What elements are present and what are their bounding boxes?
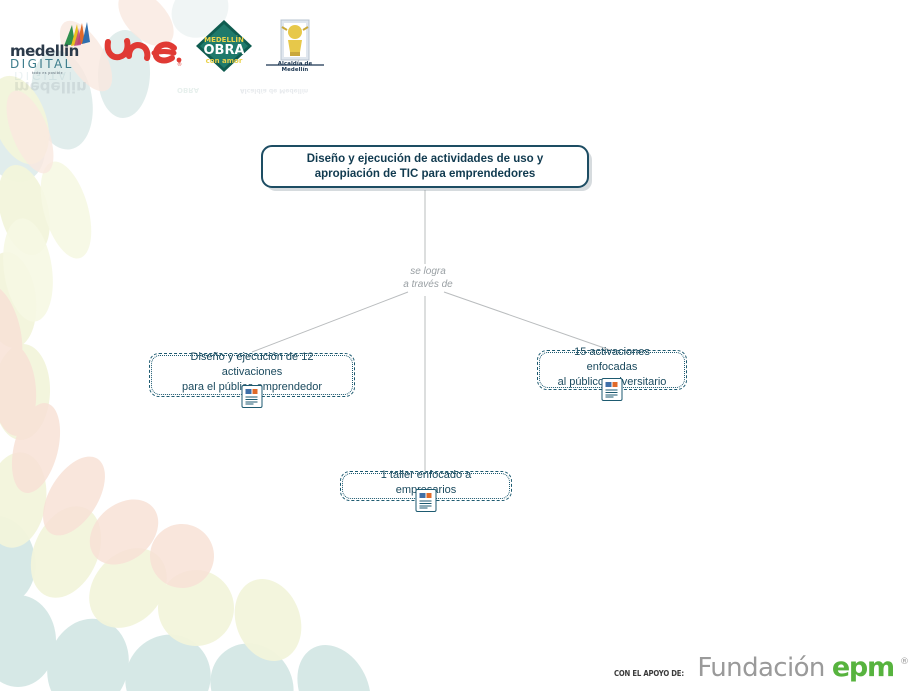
svg-text:®: ® — [177, 61, 182, 68]
footer-registered-mark: ® — [900, 657, 909, 667]
reflection-alcaldia: Alcaldía de Medellín — [240, 87, 308, 94]
footer-brand-fundacion: Fundación — [697, 655, 824, 681]
logo-reflection: medellin DIGITAL OBRA Alcaldía de Medell… — [12, 72, 312, 98]
logo-medellin-tagline: todo es posible — [32, 71, 63, 75]
node-left-line1: Diseño y ejecución de 12 activaciones — [161, 350, 343, 380]
connector-label-to-right — [444, 292, 610, 350]
node-left-12-activaciones[interactable]: Diseño y ejecución de 12 activaciones pa… — [149, 353, 355, 397]
alcaldia-caption: Alcaldía de Medellín — [264, 61, 326, 73]
edge-label-line1: se logra — [383, 265, 473, 278]
reflection-medellin: medellin — [14, 78, 87, 96]
partner-logo-bar: medellin DIGITAL todo es posible ® MEDEL… — [10, 14, 326, 74]
document-icon[interactable] — [602, 378, 623, 401]
connector-label-to-left — [252, 292, 408, 352]
footer-brand-epm: epm — [832, 654, 894, 681]
logo-une: ® — [102, 22, 184, 74]
edge-label-line2: a través de — [383, 278, 473, 291]
edge-label-se-logra-a-traves-de: se logra a través de — [383, 265, 473, 291]
logo-medellin-obra-con-amor: MEDELLÍN OBRA con amor — [194, 18, 254, 74]
logo-digital-word: DIGITAL — [10, 58, 74, 70]
node-root[interactable]: Diseño y ejecución de actividades de uso… — [261, 145, 589, 188]
obra-line2: OBRA — [203, 43, 244, 58]
logo-alcaldia-de-medellin: Alcaldía de Medellín — [264, 18, 326, 74]
logo-medellin-digital: medellin DIGITAL todo es posible — [10, 22, 92, 74]
reflection-obra: OBRA — [177, 86, 199, 94]
diagram-page: medellin DIGITAL todo es posible ® MEDEL… — [0, 0, 922, 691]
node-bottom-1-taller[interactable]: 1 taller enfocado a empresarios — [340, 471, 512, 501]
une-wordmark-icon: ® — [102, 34, 184, 68]
node-right-15-activaciones[interactable]: 15 activaciones enfocadas al público uni… — [537, 350, 687, 390]
document-icon[interactable] — [416, 489, 437, 512]
diagram-connectors — [0, 0, 922, 691]
node-root-label: Diseño y ejecución de actividades de uso… — [277, 152, 573, 182]
node-right-line1: 15 activaciones enfocadas — [549, 345, 675, 375]
obra-diamond-icon: MEDELLÍN OBRA con amor — [194, 18, 254, 74]
footer-support-prefix: CON EL APOYO DE: — [614, 669, 684, 678]
background-decoration — [0, 0, 922, 691]
obra-line3: con amor — [206, 57, 243, 65]
document-icon[interactable] — [242, 385, 263, 408]
footer-sponsor-credit: CON EL APOYO DE: Fundación epm ® — [614, 654, 910, 681]
node-root-line2: de TIC para emprendedores — [383, 168, 535, 180]
